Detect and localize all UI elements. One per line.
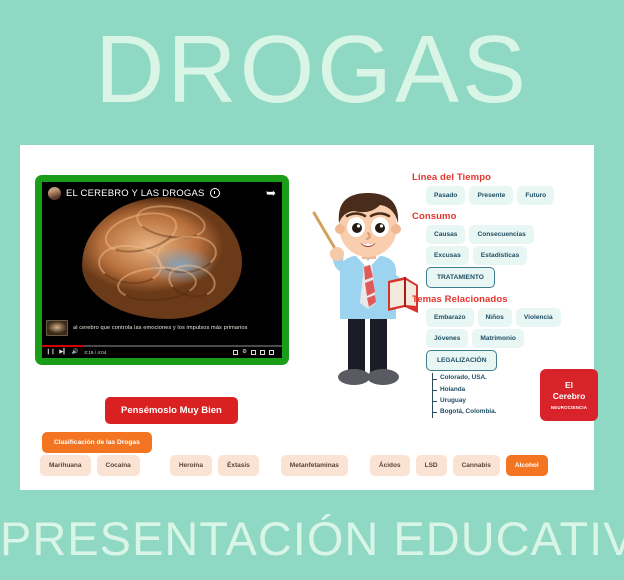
- drug-button-lsd[interactable]: LSD: [416, 455, 447, 476]
- video-caption: al cerebro que controla las emociones y …: [46, 320, 278, 336]
- menu-button-pasado[interactable]: Pasado: [426, 186, 465, 205]
- drug-button-extasis[interactable]: Éxtasis: [218, 455, 259, 476]
- menu-button-ninos[interactable]: Niños: [478, 308, 512, 327]
- menu-button-causas[interactable]: Causas: [426, 225, 465, 244]
- slide-panel: EL CEREBRO Y LAS DROGAS ➥ al cerebro que…: [20, 145, 594, 490]
- share-icon[interactable]: ➥: [266, 187, 276, 199]
- channel-avatar-icon: [48, 187, 61, 200]
- section-heading: Línea del Tiempo: [412, 172, 587, 183]
- pause-icon[interactable]: ❙❙: [46, 350, 55, 356]
- settings-icon[interactable]: ⚙: [242, 350, 247, 356]
- drug-button-cannabis[interactable]: Cannabis: [453, 455, 500, 476]
- video-controls-right: ⚙: [233, 350, 278, 356]
- el-cerebro-line1: El: [565, 380, 573, 391]
- el-cerebro-line2: Cerebro: [553, 391, 586, 402]
- menu-button-consecuencias[interactable]: Consecuencias: [469, 225, 533, 244]
- drug-button-heroina[interactable]: Heroína: [170, 455, 212, 476]
- page-title-bottom: PRESENTACIÓN EDUCATIVA: [0, 506, 624, 572]
- drug-button-row: Marihuana Cocaína Heroína Éxtasis Metanf…: [40, 455, 584, 476]
- teacher-illustration: [310, 185, 425, 395]
- menu-button-excusas[interactable]: Excusas: [426, 246, 469, 265]
- menu-button-presente[interactable]: Presente: [469, 186, 513, 205]
- button-row: Excusas Estadísticas: [412, 246, 587, 265]
- menu-button-estadisticas[interactable]: Estadísticas: [473, 246, 527, 265]
- drug-button-acidos[interactable]: Ácidos: [370, 455, 410, 476]
- video-player[interactable]: EL CEREBRO Y LAS DROGAS ➥ al cerebro que…: [35, 175, 289, 365]
- button-row: Pasado Presente Futuro: [412, 186, 587, 205]
- menu-button-jovenes[interactable]: Jóvenes: [426, 329, 468, 348]
- menu-button-legalizacion[interactable]: LEGALIZACIÓN: [426, 350, 497, 371]
- theater-icon[interactable]: [260, 350, 265, 355]
- caption-text: al cerebro que controla las emociones y …: [73, 325, 247, 331]
- brain-illustration: [42, 190, 282, 325]
- el-cerebro-subtitle: NEUROCIENCIA: [551, 405, 587, 410]
- fullscreen-icon[interactable]: [269, 350, 274, 355]
- menu-button-embarazo[interactable]: Embarazo: [426, 308, 474, 327]
- button-row: LEGALIZACIÓN: [412, 350, 587, 371]
- el-cerebro-card[interactable]: El Cerebro NEUROCIENCIA: [540, 369, 598, 421]
- drug-button-cocaina[interactable]: Cocaína: [97, 455, 140, 476]
- menu-button-futuro[interactable]: Futuro: [517, 186, 554, 205]
- drug-button-alcohol[interactable]: Alcohol: [506, 455, 548, 476]
- caption-thumbnail: [46, 320, 68, 336]
- next-icon[interactable]: ▶▎: [59, 350, 67, 356]
- brain-shape: [82, 197, 242, 319]
- captions-icon[interactable]: [233, 350, 238, 355]
- video-header: EL CEREBRO Y LAS DROGAS ➥: [42, 182, 282, 204]
- section-heading: Temas Relacionados: [412, 294, 587, 305]
- video-title: EL CEREBRO Y LAS DROGAS: [66, 188, 205, 199]
- section-linea-del-tiempo: Línea del Tiempo Pasado Presente Futuro: [412, 172, 587, 205]
- teacher-svg: [310, 185, 425, 395]
- button-row: Causas Consecuencias: [412, 225, 587, 244]
- drug-button-marihuana[interactable]: Marihuana: [40, 455, 91, 476]
- miniplayer-icon[interactable]: [251, 350, 256, 355]
- clasificacion-drogas-button[interactable]: Clasificación de las Drogas: [42, 432, 152, 453]
- section-consumo: Consumo Causas Consecuencias Excusas Est…: [412, 211, 587, 288]
- clock-icon: [210, 188, 220, 198]
- section-heading: Consumo: [412, 211, 587, 222]
- menu-button-violencia[interactable]: Violencia: [516, 308, 561, 327]
- drug-button-metanfetaminas[interactable]: Metanfetaminas: [281, 455, 348, 476]
- video-viewport[interactable]: EL CEREBRO Y LAS DROGAS ➥ al cerebro que…: [42, 182, 282, 358]
- menu-button-matrimonio[interactable]: Matrimonio: [472, 329, 524, 348]
- button-row: Embarazo Niños Violencia: [412, 308, 587, 327]
- pensemoslo-button[interactable]: Pensémoslo Muy Bien: [105, 397, 238, 424]
- button-row: Jóvenes Matrimonio: [412, 329, 587, 348]
- menu-button-tratamiento[interactable]: TRATAMIENTO: [426, 267, 495, 288]
- volume-icon[interactable]: 🔊: [72, 350, 79, 356]
- video-time: 0:19 / 4:04: [85, 350, 107, 355]
- video-controls[interactable]: ❙❙ ▶▎ 🔊 0:19 / 4:04 ⚙: [42, 347, 282, 358]
- button-row: TRATAMIENTO: [412, 267, 587, 288]
- page-title-top: DROGAS: [0, 14, 624, 126]
